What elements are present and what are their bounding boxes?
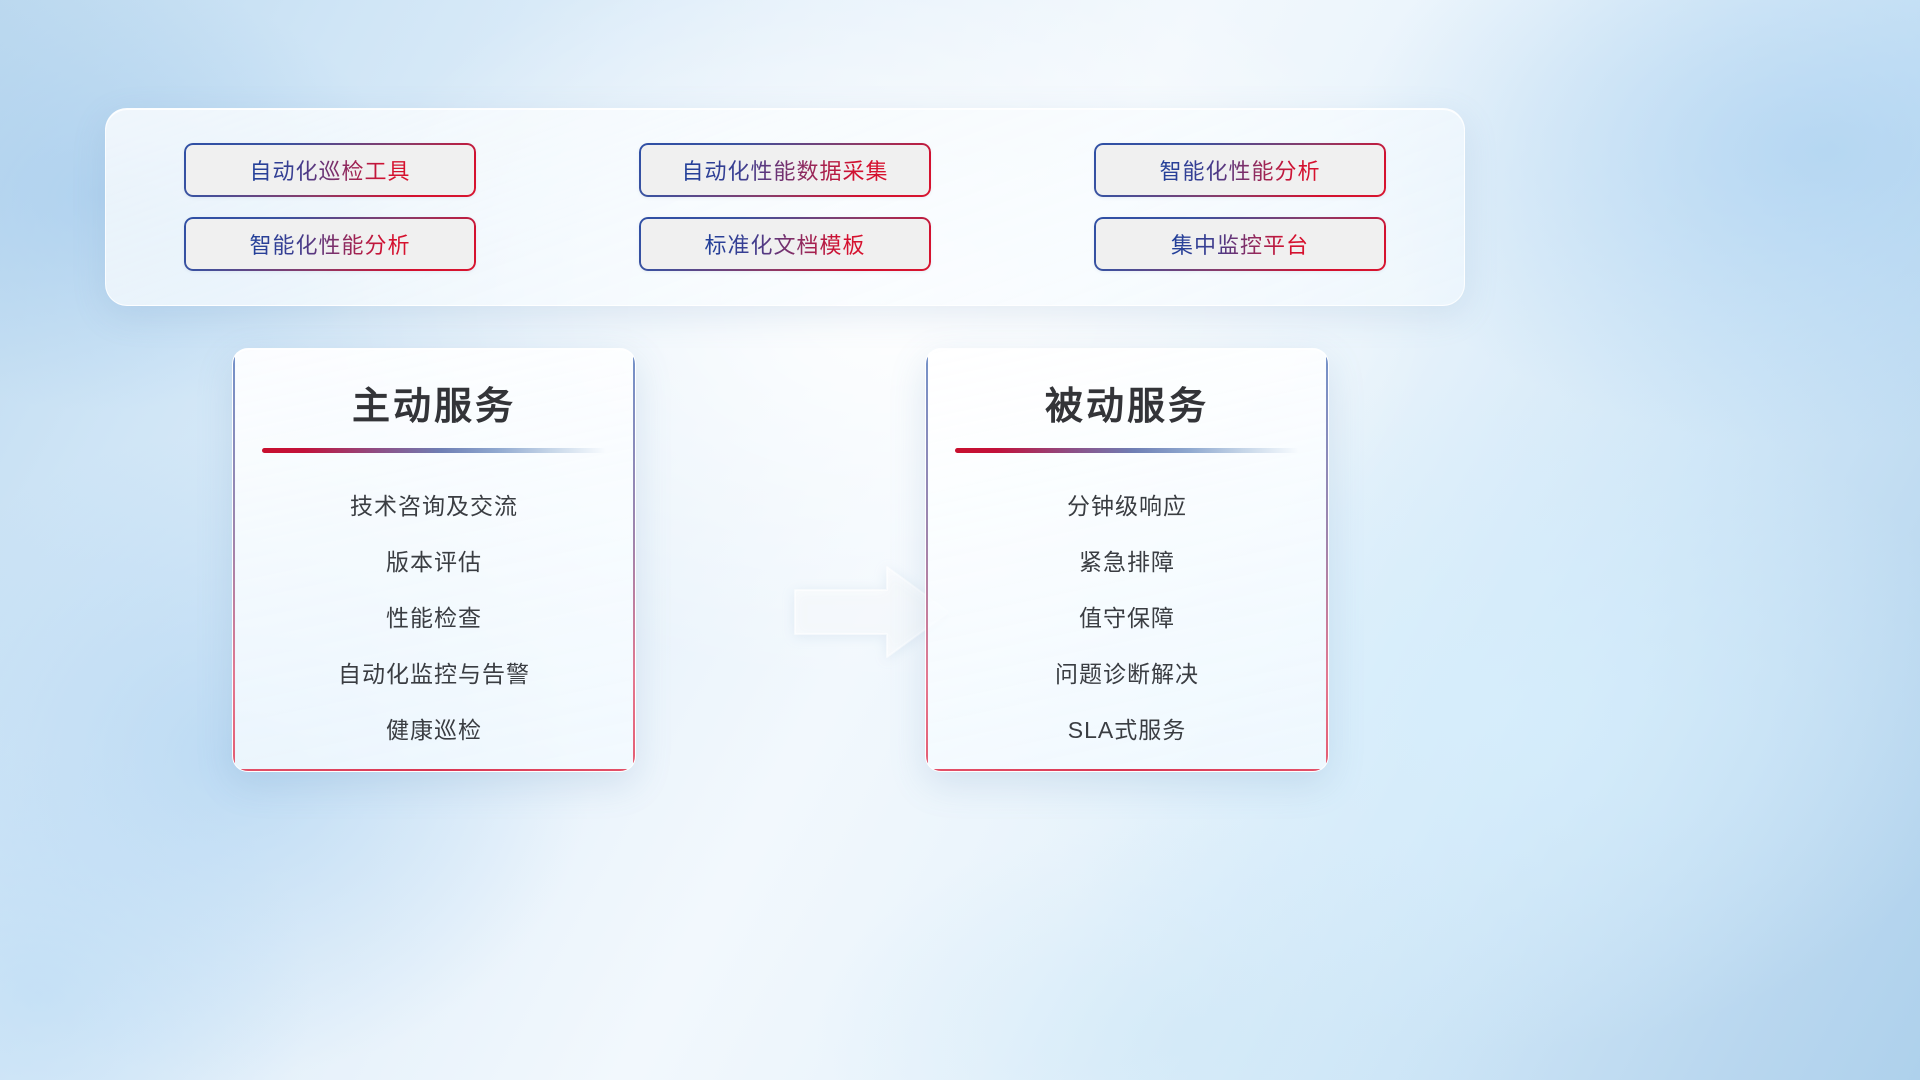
service-list-item: 紧急排障	[1079, 543, 1175, 577]
capability-pill-label: 智能化性能分析	[249, 228, 410, 260]
service-card-title: 主动服务	[233, 375, 635, 430]
title-underline-accent	[262, 448, 606, 453]
capability-pill-label: 标准化文档模板	[704, 228, 865, 260]
card-bottom-accent	[926, 769, 1328, 771]
infographic-canvas: 自动化巡检工具 自动化性能数据采集 智能化性能分析 智能化性能分析 标准化文档模…	[0, 0, 1920, 1080]
capabilities-panel: 自动化巡检工具 自动化性能数据采集 智能化性能分析 智能化性能分析 标准化文档模…	[105, 108, 1465, 306]
service-item-list: 技术咨询及交流 版本评估 性能检查 自动化监控与告警 健康巡检	[233, 487, 635, 745]
title-underline-accent	[955, 448, 1299, 453]
capability-pill-auto-inspection-tool[interactable]: 自动化巡检工具	[184, 143, 476, 197]
service-list-item: SLA式服务	[1068, 711, 1186, 745]
service-list-item: 版本评估	[386, 543, 482, 577]
capability-pill-label: 集中监控平台	[1171, 228, 1309, 260]
card-bottom-accent	[233, 769, 635, 771]
capability-pill-intelligent-perf-analysis[interactable]: 智能化性能分析	[1094, 143, 1386, 197]
capability-pill-label: 智能化性能分析	[1159, 154, 1320, 186]
capability-pill-centralized-monitoring[interactable]: 集中监控平台	[1094, 217, 1386, 271]
capability-pill-label: 自动化巡检工具	[249, 154, 410, 186]
capability-pill-standard-doc-template[interactable]: 标准化文档模板	[639, 217, 931, 271]
service-card-reactive: 被动服务 分钟级响应 紧急排障 值守保障 问题诊断解决 SLA式服务	[925, 348, 1329, 772]
capability-pill-intelligent-perf-analysis-2[interactable]: 智能化性能分析	[184, 217, 476, 271]
service-list-item: 技术咨询及交流	[350, 487, 518, 521]
service-list-item: 健康巡检	[386, 711, 482, 745]
service-card-proactive: 主动服务 技术咨询及交流 版本评估 性能检查 自动化监控与告警 健康巡检	[232, 348, 636, 772]
service-list-item: 性能检查	[386, 599, 482, 633]
service-list-item: 自动化监控与告警	[338, 655, 530, 689]
service-list-item: 分钟级响应	[1067, 487, 1187, 521]
capability-row-1: 自动化巡检工具 自动化性能数据采集 智能化性能分析	[184, 143, 1386, 197]
service-list-item: 值守保障	[1079, 599, 1175, 633]
service-card-title: 被动服务	[926, 375, 1328, 430]
capability-pill-label: 自动化性能数据采集	[681, 154, 888, 186]
capability-row-2: 智能化性能分析 标准化文档模板 集中监控平台	[184, 217, 1386, 271]
service-list-item: 问题诊断解决	[1055, 655, 1199, 689]
capability-pill-auto-perf-data-collection[interactable]: 自动化性能数据采集	[639, 143, 931, 197]
service-item-list: 分钟级响应 紧急排障 值守保障 问题诊断解决 SLA式服务	[926, 487, 1328, 745]
